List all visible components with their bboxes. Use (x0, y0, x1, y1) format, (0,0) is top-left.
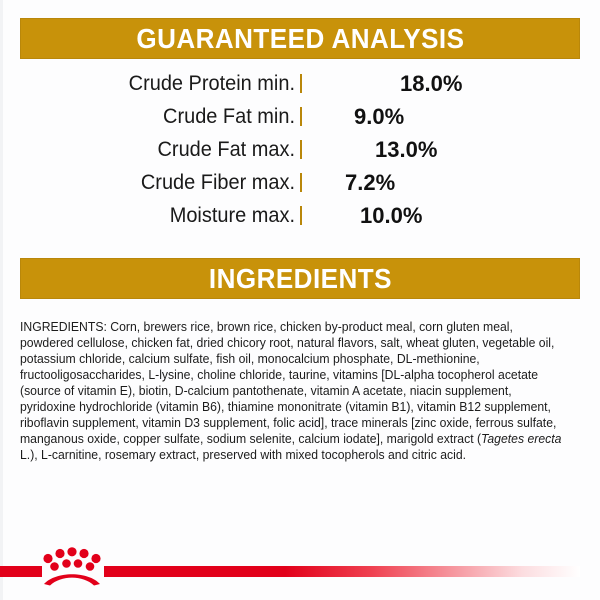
royal-canin-crown-logo (36, 542, 108, 588)
nutrition-panel: GUARANTEED ANALYSIS Crude Protein min. 1… (0, 0, 600, 600)
ingredients-header: INGREDIENTS (20, 258, 580, 299)
analysis-label: Crude Fat max. (48, 138, 295, 162)
analysis-bar-wrap (300, 174, 302, 193)
analysis-value: 13.0% (375, 138, 437, 162)
analysis-bar-wrap (300, 141, 302, 160)
analysis-label: Moisture max. (48, 204, 295, 228)
analysis-row: Crude Fiber max. 7.2% (0, 171, 600, 204)
analysis-label: Crude Protein min. (48, 72, 295, 96)
analysis-row: Crude Protein min. 18.0% (0, 72, 600, 105)
analysis-value: 9.0% (354, 105, 404, 129)
analysis-bar (300, 107, 302, 126)
analysis-row: Crude Fat min. 9.0% (0, 105, 600, 138)
analysis-bar-wrap (300, 108, 302, 127)
analysis-bar-wrap (300, 207, 302, 226)
analysis-label: Crude Fiber max. (48, 171, 295, 195)
analysis-bar-wrap (300, 75, 302, 94)
ingredients-body: INGREDIENTS: Corn, brewers rice, brown r… (20, 319, 565, 464)
analysis-value: 18.0% (400, 72, 462, 96)
ingredients-text-suffix: L.), L-carnitine, rosemary extract, pres… (20, 448, 466, 462)
analysis-bar (300, 173, 302, 192)
guaranteed-analysis-header: GUARANTEED ANALYSIS (20, 18, 580, 59)
analysis-bar (300, 74, 302, 93)
footer-rule-right (104, 566, 580, 577)
ingredients-title: INGREDIENTS (208, 263, 391, 295)
analysis-value: 10.0% (360, 204, 422, 228)
guaranteed-analysis-title: GUARANTEED ANALYSIS (136, 23, 464, 55)
analysis-bar (300, 206, 302, 225)
ingredients-latin-name: Tagetes erecta (481, 432, 561, 446)
analysis-row: Crude Fat max. 13.0% (0, 138, 600, 171)
ingredients-text-prefix: INGREDIENTS: Corn, brewers rice, brown r… (20, 320, 556, 447)
analysis-value: 7.2% (345, 171, 395, 195)
analysis-row: Moisture max. 10.0% (0, 204, 600, 237)
analysis-label: Crude Fat min. (48, 105, 295, 129)
guaranteed-analysis-chart: Crude Protein min. 18.0% Crude Fat min. … (0, 72, 600, 237)
analysis-bar (300, 140, 302, 159)
